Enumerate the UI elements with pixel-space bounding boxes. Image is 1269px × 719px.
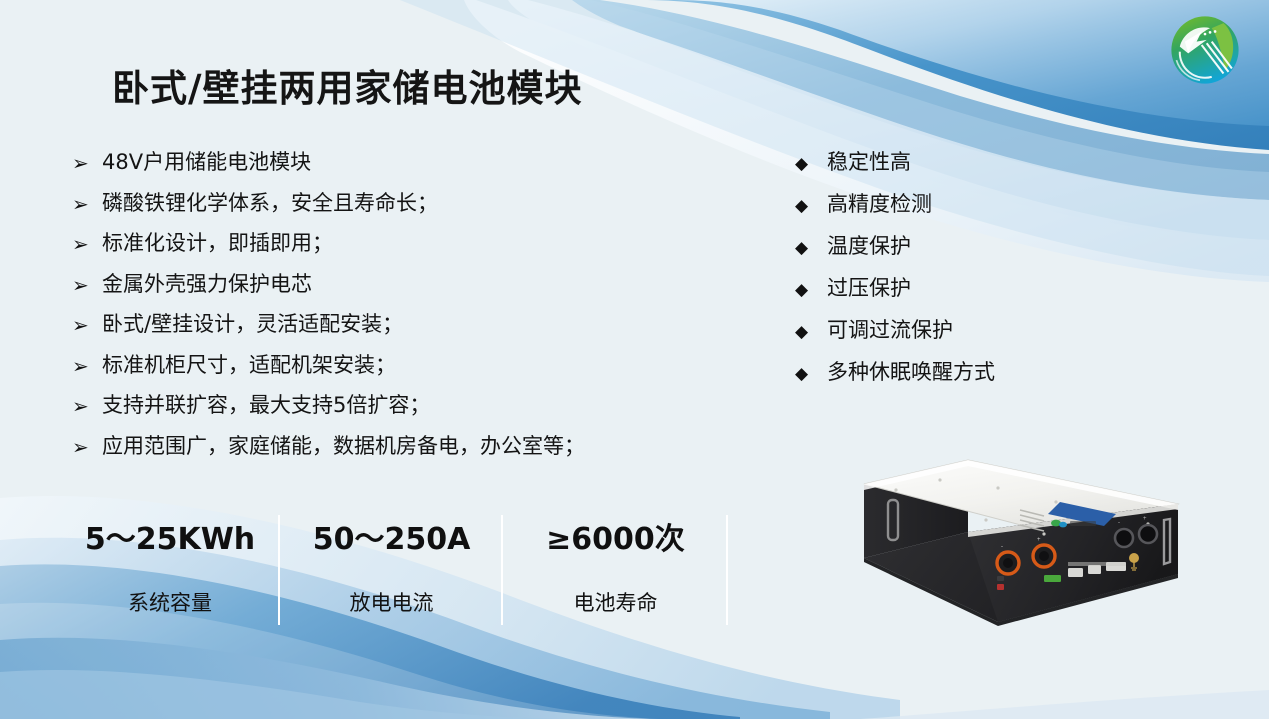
stat-label: 电池寿命	[574, 593, 658, 614]
list-item-label: 高精度检测	[827, 194, 932, 215]
list-item-label: 温度保护	[827, 236, 911, 257]
diamond-bullet-icon: ◆	[795, 365, 827, 382]
diamond-bullet-icon: ◆	[795, 197, 827, 214]
arrow-bullet-icon: ➢	[72, 438, 102, 458]
diamond-bullet-icon: ◆	[795, 239, 827, 256]
list-item: ➢ 应用范围广，家庭储能，数据机房备电，办公室等；	[72, 436, 732, 457]
stats-strip: 5～25KWh 系统容量 50～250A 放电电流 ≥6000次 电池寿命	[60, 513, 760, 625]
list-item: ◆ 过压保护	[795, 278, 1125, 299]
features-right-list: ◆ 稳定性高 ◆ 高精度检测 ◆ 温度保护 ◆ 过压保护 ◆ 可调过流保护 ◆ …	[795, 152, 1125, 404]
list-item: ➢ 标准化设计，即插即用；	[72, 233, 732, 254]
list-item-label: 多种休眠唤醒方式	[827, 362, 995, 383]
list-item-label: 卧式/壁挂设计，灵活适配安装；	[102, 314, 403, 335]
list-item-label: 过压保护	[827, 278, 911, 299]
diamond-bullet-icon: ◆	[795, 281, 827, 298]
slide-canvas: 卧式/壁挂两用家储电池模块 ➢ 48V户用储能电池模块 ➢ 磷酸铁锂化学体系，安…	[0, 0, 1269, 719]
arrow-bullet-icon: ➢	[72, 276, 102, 296]
stat-value: ≥6000次	[546, 525, 685, 555]
stat-value: 50～250A	[313, 525, 471, 555]
list-item: ➢ 卧式/壁挂设计，灵活适配安装；	[72, 314, 732, 335]
arrow-bullet-icon: ➢	[72, 154, 102, 174]
list-item-label: 稳定性高	[827, 152, 911, 173]
list-item-label: 金属外壳强力保护电芯	[102, 274, 312, 295]
company-logo	[1163, 8, 1247, 92]
arrow-bullet-icon: ➢	[72, 397, 102, 417]
logo-emblem-icon	[1163, 8, 1247, 92]
page-title: 卧式/壁挂两用家储电池模块	[112, 58, 583, 112]
stat-item: 5～25KWh 系统容量	[60, 513, 280, 625]
stat-label: 系统容量	[128, 593, 212, 614]
list-item-label: 可调过流保护	[827, 320, 953, 341]
svg-text:+: +	[1143, 516, 1147, 522]
stat-value: 5～25KWh	[85, 525, 255, 555]
features-left-list: ➢ 48V户用储能电池模块 ➢ 磷酸铁锂化学体系，安全且寿命长； ➢ 标准化设计…	[72, 152, 732, 476]
arrow-bullet-icon: ➢	[72, 316, 102, 336]
stat-divider	[726, 515, 728, 625]
list-item-label: 支持并联扩容，最大支持5倍扩容；	[102, 395, 430, 416]
arrow-bullet-icon: ➢	[72, 195, 102, 215]
arrow-bullet-icon: ➢	[72, 235, 102, 255]
list-item-label: 标准化设计，即插即用；	[102, 233, 333, 254]
list-item: ➢ 48V户用储能电池模块	[72, 152, 732, 173]
list-item: ➢ 金属外壳强力保护电芯	[72, 274, 732, 295]
list-item: ➢ 支持并联扩容，最大支持5倍扩容；	[72, 395, 732, 416]
svg-text:+: +	[1037, 537, 1041, 543]
stat-label: 放电电流	[350, 593, 434, 614]
list-item: ◆ 稳定性高	[795, 152, 1125, 173]
list-item-label: 标准机柜尺寸，适配机架安装；	[102, 355, 396, 376]
arrow-bullet-icon: ➢	[72, 357, 102, 377]
diamond-bullet-icon: ◆	[795, 155, 827, 172]
battery-module-photo: - + - +	[848, 446, 1260, 656]
battery-module-illustration: - + - +	[848, 446, 1260, 656]
list-item-label: 48V户用储能电池模块	[102, 152, 311, 173]
list-item: ◆ 可调过流保护	[795, 320, 1125, 341]
list-item: ◆ 温度保护	[795, 236, 1125, 257]
svg-text:-: -	[1118, 520, 1120, 526]
stat-item: ≥6000次 电池寿命	[503, 513, 728, 625]
stat-item: 50～250A 放电电流	[280, 513, 503, 625]
svg-text:-: -	[1001, 544, 1003, 550]
list-item: ➢ 标准机柜尺寸，适配机架安装；	[72, 355, 732, 376]
list-item-label: 磷酸铁锂化学体系，安全且寿命长；	[102, 193, 438, 214]
diamond-bullet-icon: ◆	[795, 323, 827, 340]
list-item: ➢ 磷酸铁锂化学体系，安全且寿命长；	[72, 193, 732, 214]
list-item: ◆ 多种休眠唤醒方式	[795, 362, 1125, 383]
list-item: ◆ 高精度检测	[795, 194, 1125, 215]
list-item-label: 应用范围广，家庭储能，数据机房备电，办公室等；	[102, 436, 585, 457]
